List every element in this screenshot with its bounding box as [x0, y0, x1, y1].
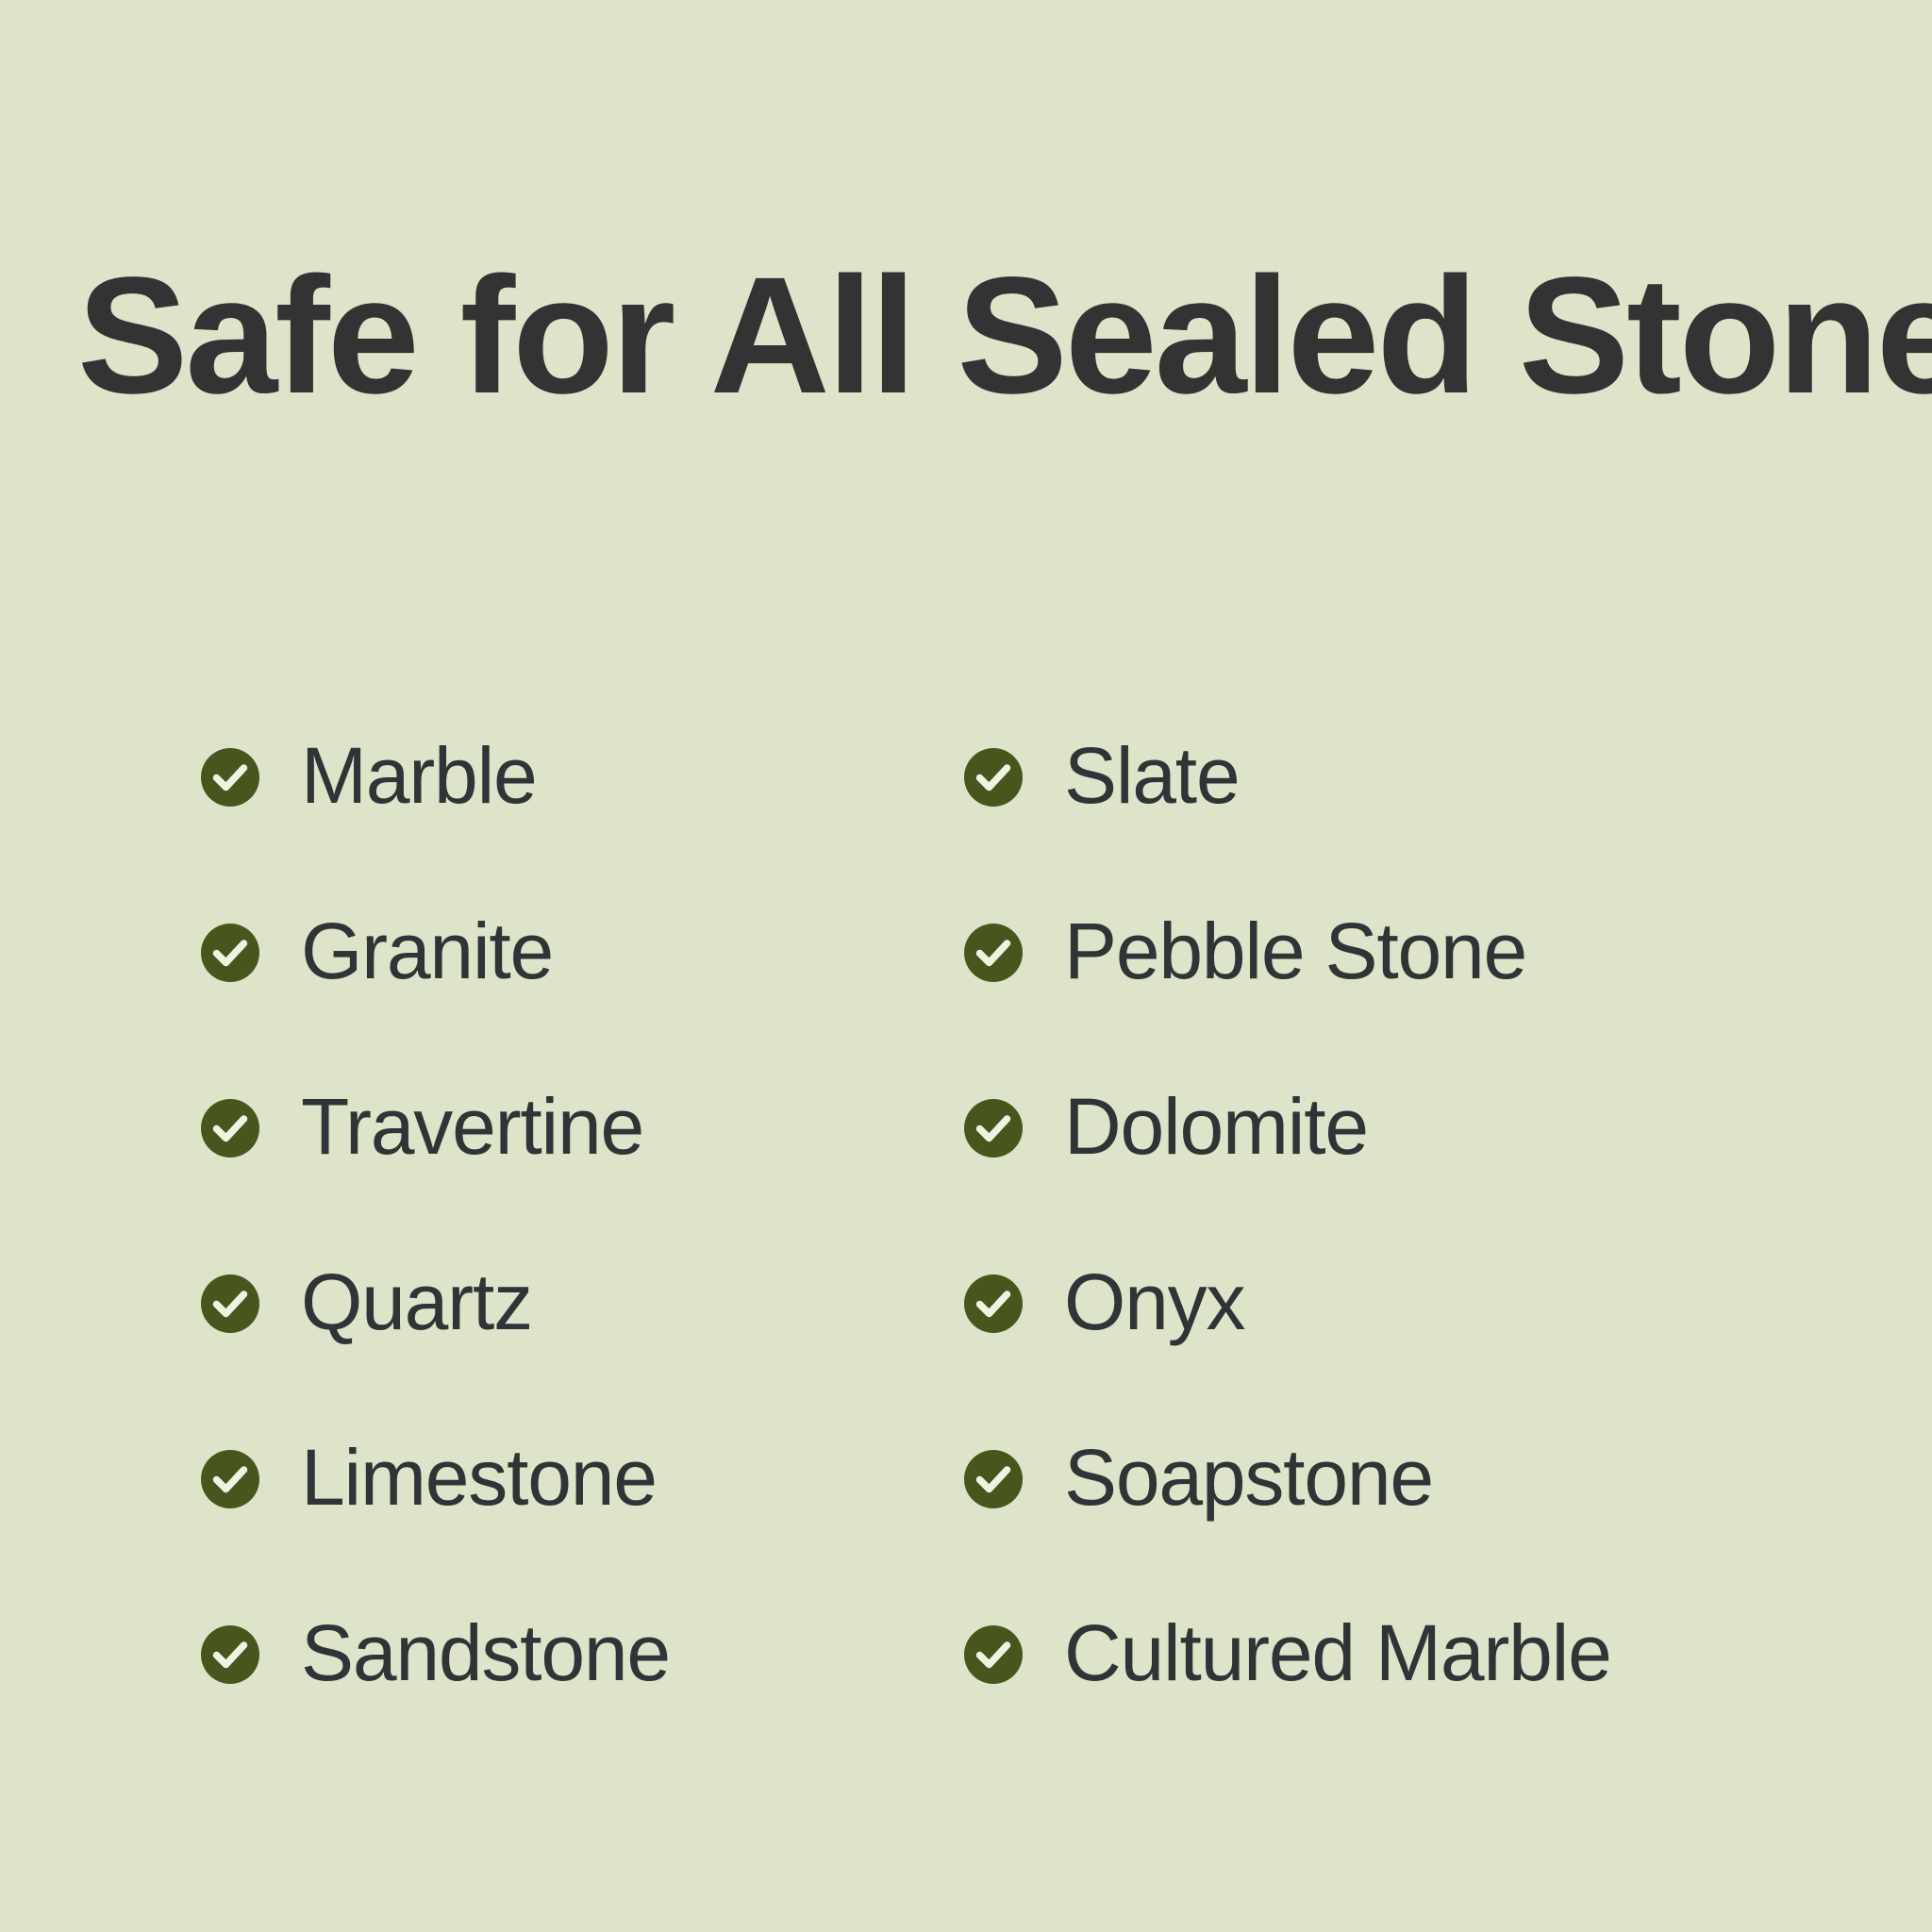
- list-item: Pebble Stone: [964, 924, 1898, 982]
- list-item-label: Dolomite: [1064, 1087, 1368, 1166]
- list-item: Quartz: [201, 1274, 937, 1333]
- check-circle-icon: [964, 924, 1023, 982]
- list-item: Granite: [201, 924, 937, 982]
- check-circle-icon: [964, 1450, 1023, 1508]
- check-circle-icon: [201, 748, 259, 807]
- check-circle-icon: [964, 1625, 1023, 1684]
- check-circle-icon: [201, 1099, 259, 1158]
- list-item: Soapstone: [964, 1450, 1898, 1508]
- list-item-label: Soapstone: [1064, 1438, 1433, 1517]
- check-circle-icon: [964, 1099, 1023, 1158]
- list-item-label: Pebble Stone: [1064, 911, 1526, 991]
- list-item: Cultured Marble: [964, 1625, 1898, 1684]
- list-item-label: Granite: [301, 911, 553, 991]
- list-item-label: Cultured Marble: [1064, 1613, 1611, 1692]
- list-item-label: Onyx: [1064, 1262, 1244, 1341]
- check-circle-icon: [201, 1450, 259, 1508]
- list-item: Slate: [964, 748, 1898, 807]
- list-item: Sandstone: [201, 1625, 937, 1684]
- list-item-label: Slate: [1064, 736, 1239, 815]
- check-circle-icon: [201, 1625, 259, 1684]
- stone-list: Marble Granite Travertine: [0, 0, 1932, 1932]
- list-item-label: Sandstone: [301, 1613, 670, 1692]
- list-item-label: Marble: [301, 736, 537, 815]
- stone-list-column-left: Marble Granite Travertine: [201, 748, 937, 1684]
- stone-list-column-right: Slate Pebble Stone Dolomite: [964, 748, 1898, 1684]
- check-circle-icon: [964, 1274, 1023, 1333]
- check-circle-icon: [964, 748, 1023, 807]
- list-item-label: Limestone: [301, 1438, 657, 1517]
- check-circle-icon: [201, 1274, 259, 1333]
- list-item: Marble: [201, 748, 937, 807]
- list-item: Onyx: [964, 1274, 1898, 1333]
- list-item-label: Quartz: [301, 1262, 532, 1341]
- check-circle-icon: [201, 924, 259, 982]
- list-item: Dolomite: [964, 1099, 1898, 1158]
- list-item: Travertine: [201, 1099, 937, 1158]
- stone-safety-poster: Safe for All Sealed Stone Marble Granite: [0, 0, 1932, 1932]
- list-item-label: Travertine: [301, 1087, 643, 1166]
- list-item: Limestone: [201, 1450, 937, 1508]
